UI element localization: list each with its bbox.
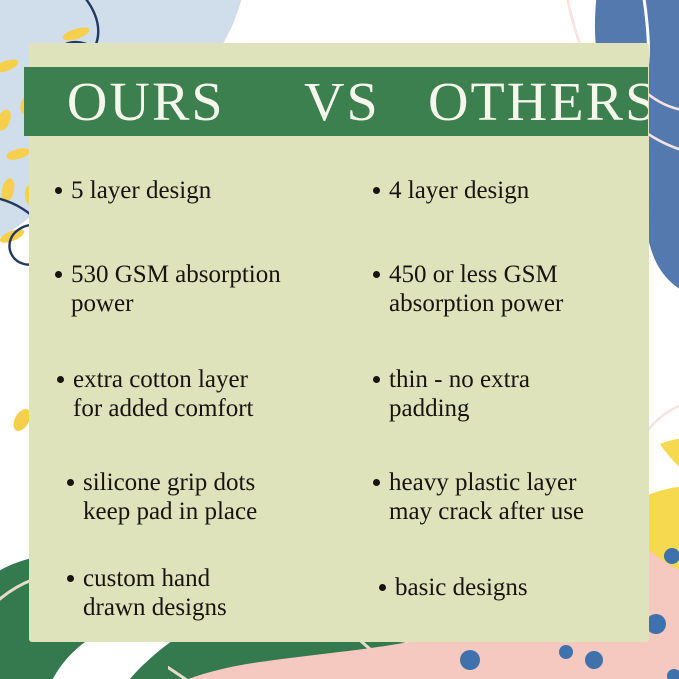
list-item-label: 4 layer design — [389, 176, 529, 205]
bullet-icon — [67, 479, 74, 486]
list-item: basic designs — [379, 573, 528, 602]
comparison-infographic: OURS VS OTHERS 5 layer design 530 GSM ab… — [0, 0, 679, 679]
list-item-label: extra cotton layer for added comfort — [73, 365, 253, 423]
list-item: 530 GSM absorption power — [55, 260, 281, 318]
list-item-label: thin - no extra padding — [389, 365, 530, 423]
column-others: 4 layer design 450 or less GSM absorptio… — [351, 136, 649, 642]
bullet-icon — [55, 271, 62, 278]
list-item: silicone grip dots keep pad in place — [67, 468, 257, 526]
bullet-icon — [373, 479, 380, 486]
list-item: extra cotton layer for added comfort — [57, 365, 253, 423]
list-item-label: heavy plastic layer may crack after use — [389, 468, 584, 526]
bullet-icon — [373, 271, 380, 278]
list-item: 450 or less GSM absorption power — [373, 260, 563, 318]
bullet-icon — [373, 187, 380, 194]
list-item-label: 530 GSM absorption power — [71, 260, 281, 318]
list-item-label: basic designs — [395, 573, 528, 602]
page-title: OURS VS OTHERS — [24, 74, 648, 129]
list-item-label: 450 or less GSM absorption power — [389, 260, 563, 318]
comparison-columns: 5 layer design 530 GSM absorption power … — [29, 136, 649, 642]
bullet-icon — [373, 376, 380, 383]
header-band: OURS VS OTHERS — [24, 67, 648, 136]
list-item: thin - no extra padding — [373, 365, 530, 423]
list-item-label: 5 layer design — [71, 176, 211, 205]
list-item-label: silicone grip dots keep pad in place — [83, 468, 257, 526]
list-item-label: custom hand drawn designs — [83, 564, 227, 622]
bullet-icon — [55, 187, 62, 194]
column-ours: 5 layer design 530 GSM absorption power … — [29, 136, 351, 642]
list-item: 4 layer design — [373, 176, 529, 205]
list-item: heavy plastic layer may crack after use — [373, 468, 584, 526]
list-item: 5 layer design — [55, 176, 211, 205]
bullet-icon — [57, 376, 64, 383]
list-item: custom hand drawn designs — [67, 564, 227, 622]
bullet-icon — [379, 584, 386, 591]
bullet-icon — [67, 575, 74, 582]
